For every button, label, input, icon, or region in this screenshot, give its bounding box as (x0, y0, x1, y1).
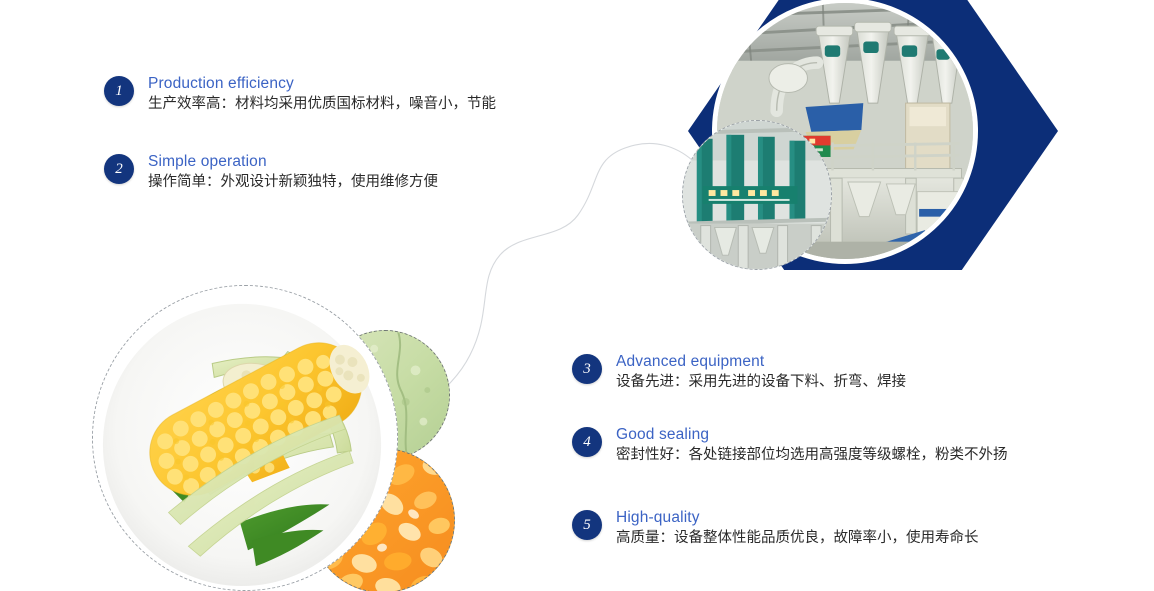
feature-item-1[interactable]: 1 Production efficiency 生产效率高：材料均采用优质国标材… (104, 74, 496, 115)
feature-description-1: 生产效率高：材料均采用优质国标材料，噪音小，节能 (148, 93, 496, 115)
feature-item-5[interactable]: 5 High-quality 高质量：设备整体性能品质优良，故障率小，使用寿命长 (572, 508, 979, 549)
feature-description-5: 高质量：设备整体性能品质优良，故障率小，使用寿命长 (616, 527, 979, 549)
feature-description-3: 设备先进：采用先进的设备下料、折弯、焊接 (616, 371, 906, 393)
machine-photo-small-circle (682, 120, 832, 270)
feature-badge-5: 5 (572, 510, 602, 540)
feature-title-2: Simple operation (148, 152, 438, 171)
feature-title-5: High-quality (616, 508, 979, 527)
feature-badge-4: 4 (572, 427, 602, 457)
feature-text-5: High-quality 高质量：设备整体性能品质优良，故障率小，使用寿命长 (616, 508, 979, 549)
green-milling-machinery-photo (683, 121, 831, 269)
feature-item-2[interactable]: 2 Simple operation 操作简单：外观设计新颖独特，使用维修方便 (104, 152, 438, 193)
feature-title-1: Production efficiency (148, 74, 496, 93)
feature-badge-3: 3 (572, 354, 602, 384)
fresh-corn-cob-photo (93, 286, 397, 590)
feature-description-2: 操作简单：外观设计新颖独特，使用维修方便 (148, 171, 438, 193)
feature-text-1: Production efficiency 生产效率高：材料均采用优质国标材料，… (148, 74, 496, 115)
feature-description-4: 密封性好：各处链接部位均选用高强度等级螺栓，粉类不外扬 (616, 444, 1008, 466)
corn-photo-circle (92, 285, 398, 591)
feature-text-3: Advanced equipment 设备先进：采用先进的设备下料、折弯、焊接 (616, 352, 906, 393)
feature-item-4[interactable]: 4 Good sealing 密封性好：各处链接部位均选用高强度等级螺栓，粉类不… (572, 425, 1008, 466)
feature-text-4: Good sealing 密封性好：各处链接部位均选用高强度等级螺栓，粉类不外扬 (616, 425, 1008, 466)
feature-badge-1: 1 (104, 76, 134, 106)
feature-badge-2: 2 (104, 154, 134, 184)
feature-title-3: Advanced equipment (616, 352, 906, 371)
feature-item-3[interactable]: 3 Advanced equipment 设备先进：采用先进的设备下料、折弯、焊… (572, 352, 906, 393)
feature-text-2: Simple operation 操作简单：外观设计新颖独特，使用维修方便 (148, 152, 438, 193)
feature-title-4: Good sealing (616, 425, 1008, 444)
infographic-canvas: 1 Production efficiency 生产效率高：材料均采用优质国标材… (0, 0, 1154, 591)
